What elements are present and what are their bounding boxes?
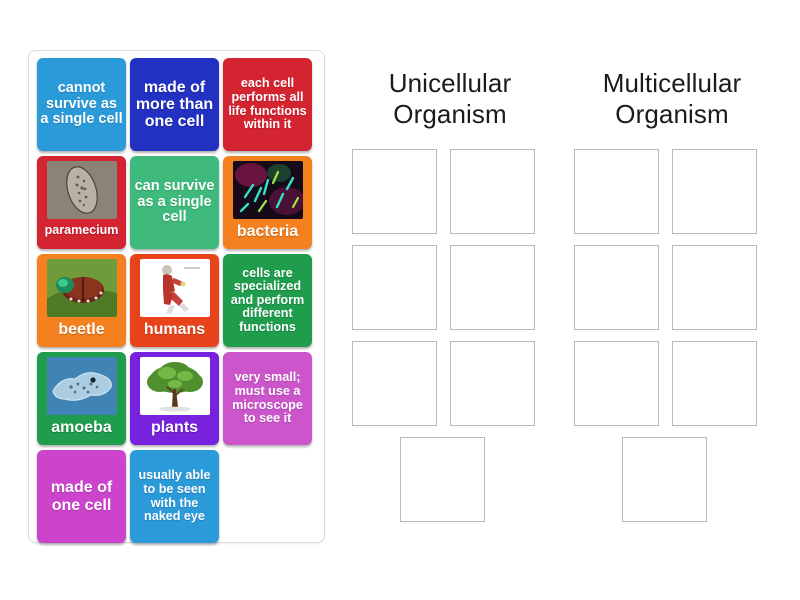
- dropzone-multi-5[interactable]: [574, 341, 659, 426]
- tile-usually-able-to-be-seen[interactable]: usually able to be seen with the naked e…: [130, 450, 219, 543]
- tile-cannot-survive-single-cell[interactable]: cannot survive as a single cell: [37, 58, 126, 151]
- tile-label: made of more than one cell: [130, 79, 219, 131]
- tile-caption: plants: [151, 420, 198, 436]
- tile-caption: humans: [144, 322, 205, 338]
- dropzone-multi-6[interactable]: [672, 341, 757, 426]
- tile-caption: paramecium: [45, 224, 119, 237]
- tile-label: usually able to be seen with the naked e…: [130, 469, 219, 523]
- tile-each-cell-performs-all-life-functions[interactable]: each cell performs all life functions wi…: [223, 58, 312, 151]
- dropzone-uni-2[interactable]: [450, 149, 535, 234]
- paramecium-icon: [47, 161, 117, 219]
- tile-label: each cell performs all life functions wi…: [223, 77, 312, 131]
- tile-caption: beetle: [58, 322, 104, 338]
- dropzone-grid-multicellular: [574, 149, 770, 533]
- category-column-unicellular: Unicellular Organism: [352, 68, 548, 533]
- category-column-multicellular: Multicellular Organism: [574, 68, 770, 533]
- tile-label: can survive as a single cell: [130, 179, 219, 226]
- tile-label: cannot survive as a single cell: [37, 81, 126, 128]
- dropzone-multi-1[interactable]: [574, 149, 659, 234]
- dropzone-uni-1[interactable]: [352, 149, 437, 234]
- tile-made-of-more-than-one-cell[interactable]: made of more than one cell: [130, 58, 219, 151]
- tile-plants[interactable]: plants: [130, 352, 219, 445]
- tile-caption: amoeba: [51, 420, 111, 436]
- dropzone-grid-unicellular: [352, 149, 548, 533]
- category-title-multicellular: Multicellular Organism: [574, 68, 770, 129]
- tile-label: made of one cell: [37, 479, 126, 514]
- dropzone-uni-5[interactable]: [352, 341, 437, 426]
- category-title-unicellular: Unicellular Organism: [352, 68, 548, 129]
- dropzone-uni-3[interactable]: [352, 245, 437, 330]
- tile-grid: cannot survive as a single cellmade of m…: [35, 56, 320, 546]
- tile-paramecium[interactable]: paramecium: [37, 156, 126, 249]
- word-tile-bank: cannot survive as a single cellmade of m…: [28, 50, 325, 543]
- tile-label: very small; must use a microscope to see…: [223, 371, 312, 425]
- dropzone-uni-4[interactable]: [450, 245, 535, 330]
- amoeba-icon: [47, 357, 117, 415]
- tile-made-of-one-cell[interactable]: made of one cell: [37, 450, 126, 543]
- bacteria-icon: [233, 161, 303, 219]
- tile-can-survive-single-cell[interactable]: can survive as a single cell: [130, 156, 219, 249]
- dropzone-multi-2[interactable]: [672, 149, 757, 234]
- dropzone-multi-7[interactable]: [622, 437, 707, 522]
- dropzone-uni-7[interactable]: [400, 437, 485, 522]
- tile-humans[interactable]: humans: [130, 254, 219, 347]
- tile-beetle[interactable]: beetle: [37, 254, 126, 347]
- dropzone-multi-4[interactable]: [672, 245, 757, 330]
- human-body-icon: [140, 259, 210, 317]
- dropzone-uni-6[interactable]: [450, 341, 535, 426]
- tile-very-small-microscope[interactable]: very small; must use a microscope to see…: [223, 352, 312, 445]
- tile-amoeba[interactable]: amoeba: [37, 352, 126, 445]
- tile-label: cells are specialized and perform differ…: [223, 267, 312, 335]
- dropzone-multi-3[interactable]: [574, 245, 659, 330]
- tree-icon: [140, 357, 210, 415]
- tile-bacteria[interactable]: bacteria: [223, 156, 312, 249]
- activity-stage: cannot survive as a single cellmade of m…: [0, 0, 800, 600]
- tile-caption: bacteria: [237, 224, 298, 240]
- tile-cells-are-specialized[interactable]: cells are specialized and perform differ…: [223, 254, 312, 347]
- beetle-icon: [47, 259, 117, 317]
